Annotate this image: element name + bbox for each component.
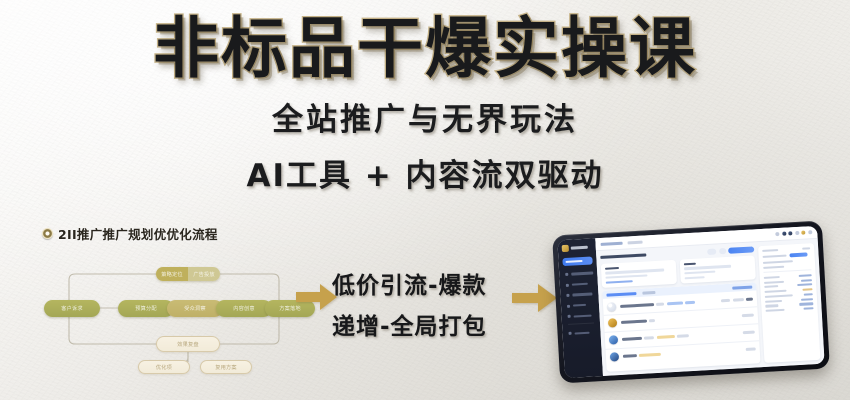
topbar-icons [775,230,812,236]
row-actions[interactable] [746,347,756,351]
list-tab-2[interactable] [642,291,655,294]
dashboard-page-actions [707,246,754,254]
flow-node-mid[interactable]: 效果复盘 [156,336,220,352]
device-bezel [552,221,830,384]
sidebar-item-3[interactable] [564,291,594,300]
flow-node-main-4[interactable]: 内容创意 [216,300,272,317]
row-content [620,299,718,307]
sidebar-icon-6 [568,332,571,335]
row-actions[interactable] [743,331,755,335]
flow-node-main-1[interactable]: 客户诉求 [44,300,100,317]
row-actions[interactable] [721,297,753,302]
sidebar-item-4[interactable] [565,301,595,310]
flow-node-bottom-2-label: 复用方案 [215,364,237,371]
dashboard-card-2[interactable] [680,255,756,284]
center-callout-line-1: 低价引流-爆款 [332,266,487,300]
sidebar-icon-4 [567,305,570,308]
poster-headline: 非标品干爆实操课 [0,16,850,82]
dashboard-main [595,226,824,376]
card-1-title [605,266,619,269]
list-tab-3[interactable] [732,285,752,289]
card-2-line-2 [684,271,715,275]
sidebar-item-6[interactable] [566,329,596,338]
search-icon[interactable] [775,232,779,236]
device-screen [557,226,824,378]
poster-canvas: 非标品干爆实操课 全站推广与无界玩法 AI工具 + 内容流双驱动 2II推广推广… [0,0,850,400]
list-tab-1[interactable] [606,292,636,296]
dashboard-content-column [600,246,760,371]
sidebar-divider [568,323,594,325]
avatar [609,335,618,344]
right-panel-header [762,247,810,252]
right-panel-row [764,279,812,284]
right-panel-row [764,288,812,293]
refresh-icon[interactable] [707,249,716,255]
bell-icon[interactable] [795,231,799,235]
sidebar-item-1[interactable] [563,269,593,278]
row-content [621,332,739,342]
flowchart: 2II推广推广规划优优化流程 [34,224,314,376]
flow-node-top-left-label: 策略定位 [156,271,188,278]
right-panel-row [762,252,810,259]
sidebar-item-2[interactable] [564,280,594,289]
avatar [610,352,619,361]
sidebar-icon-1 [565,273,568,276]
right-panel-row [766,307,814,312]
sidebar-logo-label [571,246,588,250]
card-2-title [684,262,696,265]
flow-node-main-4-label: 内容创意 [233,305,255,312]
dashboard-card-1[interactable] [601,259,677,288]
card-1-line-2 [605,274,647,279]
row-content [620,315,738,325]
sidebar-icon-5 [568,315,571,318]
poster-subtitle-2: AI工具 + 内容流双驱动 [0,150,850,195]
flowchart-canvas: 策略定位 广告投放 客户诉求 预算分配 受众洞察 内容创意 方案落地 效果复盘 [34,246,314,376]
right-panel-row [763,259,811,264]
card-2-line-3 [685,276,705,280]
filter-icon[interactable] [719,248,726,254]
sidebar-item-5[interactable] [565,312,595,321]
flow-node-main-2[interactable]: 预算分配 [118,300,174,317]
sidebar-item-active[interactable] [562,256,592,266]
flow-node-main-3-label: 受众洞察 [184,305,206,312]
right-panel-divider [763,270,811,273]
avatar [608,319,617,328]
flow-node-bottom-2[interactable]: 复用方案 [200,360,252,374]
card-1-line-1 [605,269,664,275]
app-logo-icon [562,245,569,252]
flow-node-main-1-label: 客户诉求 [61,305,83,312]
flow-node-top-right-label: 广告投放 [188,271,220,278]
right-panel-row [765,298,813,303]
row-content [622,348,742,358]
card-1-line-3 [606,280,633,284]
card-2-line-1 [684,265,731,270]
flow-node-main-3[interactable]: 受众洞察 [167,300,223,317]
flow-node-top[interactable]: 策略定位 广告投放 [156,267,220,281]
right-panel-row [765,293,813,298]
sidebar-icon-3 [566,294,569,297]
flow-node-bottom-1[interactable]: 优化项 [138,360,190,374]
more-icon[interactable] [808,230,812,234]
center-callout-line-2: 递增-全局打包 [332,307,487,341]
flow-node-mid-label: 效果复盘 [177,341,199,348]
arrow-right-icon-right [512,283,558,313]
right-panel-row [764,274,812,279]
poster-subtitle-1: 全站推广与无界玩法 [0,94,850,139]
sidebar-logo[interactable] [562,243,592,252]
grid-icon[interactable] [802,230,806,234]
sidebar-icon-2 [566,283,569,286]
flowchart-header: 2II推广推广规划优优化流程 [42,224,314,243]
right-panel-row [763,264,811,269]
avatar [607,302,616,311]
laptop-mockup [552,221,830,384]
headline-block: 非标品干爆实操课 全站推广与无界玩法 AI工具 + 内容流双驱动 [0,16,850,195]
avatar-icon-1[interactable] [782,232,786,236]
dashboard-body [596,239,825,376]
topbar-tab-2[interactable] [627,240,642,244]
dashboard-right-panel [758,243,820,363]
flow-node-main-2-label: 预算分配 [135,305,157,312]
dashboard-list [602,283,760,372]
target-dot-icon [42,228,53,239]
right-panel-row [765,303,813,308]
flow-node-bottom-1-label: 优化项 [156,364,172,371]
right-panel-row [764,283,812,288]
flowchart-title: 2II推广推广规划优优化流程 [58,224,218,243]
topbar-tab-1[interactable] [601,241,623,245]
row-actions[interactable] [742,314,754,318]
primary-action-button[interactable] [728,246,754,253]
avatar-icon-2[interactable] [788,231,792,235]
dashboard-page-title [600,253,646,259]
center-callout: 低价引流-爆款 递增-全局打包 [332,266,487,341]
right-panel-primary-button[interactable] [789,252,807,257]
